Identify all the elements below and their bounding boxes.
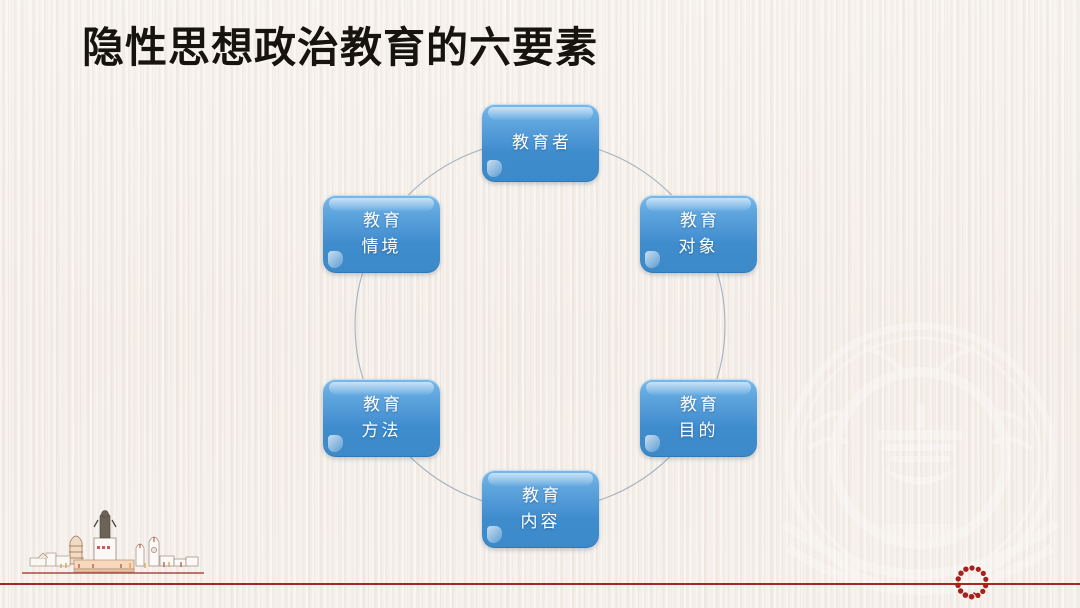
diagram-node-label: 教育者 xyxy=(509,130,572,156)
diagram-node-label: 教育 方法 xyxy=(360,392,403,445)
diagram-node-label: 教育 内容 xyxy=(519,483,562,536)
bottom-red-rule xyxy=(0,583,1080,585)
diagram-node-label: 教育 对象 xyxy=(677,208,720,261)
diagram-node-audience[interactable]: 教育 对象 xyxy=(640,195,757,273)
diagram-node-situation[interactable]: 教育 情境 xyxy=(323,195,440,273)
diagram-node-content[interactable]: 教育 内容 xyxy=(482,470,599,548)
campus-skyline-illustration xyxy=(8,500,208,585)
diagram-node-method[interactable]: 教育 方法 xyxy=(323,379,440,457)
diagram-node-educator[interactable]: 教育者 xyxy=(482,104,599,182)
slide-canvas: 隐性思想政治教育的六要素 教育者 教育 对象 教育 目的 教育 内容 教育 方法… xyxy=(0,0,1080,608)
diagram-node-label: 教育 情境 xyxy=(360,208,403,261)
diagram-node-label: 教育 目的 xyxy=(677,392,720,445)
red-dotted-circle-logo[interactable] xyxy=(952,563,992,605)
diagram-node-purpose[interactable]: 教育 目的 xyxy=(640,379,757,457)
